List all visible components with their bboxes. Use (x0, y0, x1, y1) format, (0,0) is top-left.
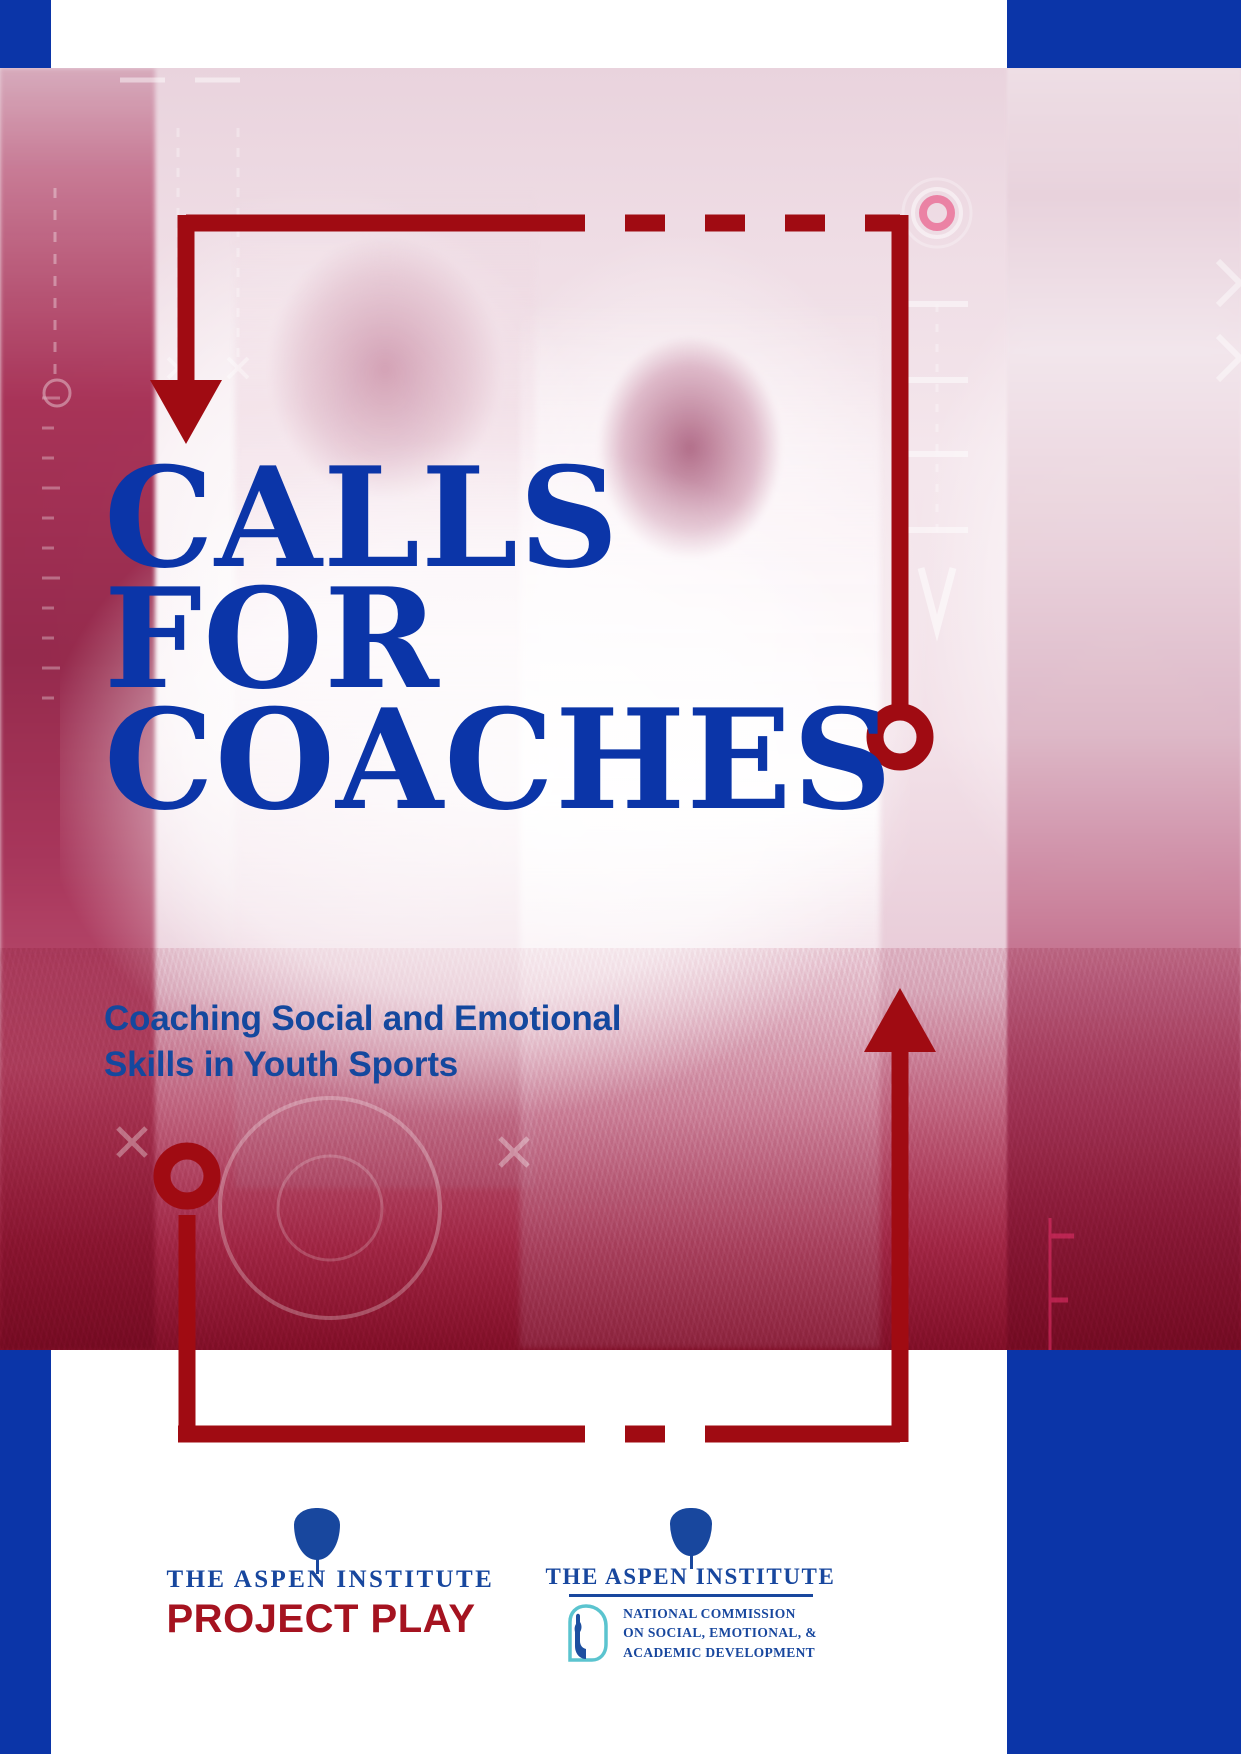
logo-project-play: THE ASPEN INSTITUTE PROJECT PLAY (167, 1508, 467, 1642)
logo-divider-rule (569, 1594, 813, 1597)
commission-name: NATIONAL COMMISSION ON SOCIAL, EMOTIONAL… (623, 1604, 817, 1661)
head-with-hand-icon (564, 1602, 616, 1664)
title-line-3: COACHES (104, 697, 964, 824)
project-play-org-name: THE ASPEN INSTITUTE (167, 1566, 467, 1594)
blue-band-top-right (1007, 0, 1241, 68)
aspen-leaf-icon (541, 1508, 841, 1564)
commission-lockup: NATIONAL COMMISSION ON SOCIAL, EMOTIONAL… (541, 1602, 841, 1664)
subtitle-line-2: Skills in Youth Sports (104, 1042, 824, 1088)
page-subtitle: Coaching Social and Emotional Skills in … (104, 996, 824, 1087)
report-cover: CALLS FOR COACHES Coaching Social and Em… (0, 0, 1241, 1754)
logo-national-commission: THE ASPEN INSTITUTE NATIONAL COMMISSION … (541, 1508, 841, 1664)
project-play-program-name: PROJECT PLAY (167, 1597, 467, 1642)
commission-line-2: ON SOCIAL, EMOTIONAL, & (623, 1623, 817, 1642)
logo-row: THE ASPEN INSTITUTE PROJECT PLAY THE ASP… (0, 1508, 1007, 1698)
subtitle-line-1: Coaching Social and Emotional (104, 996, 824, 1042)
blue-band-bottom-right (1007, 1350, 1241, 1754)
commission-line-3: ACADEMIC DEVELOPMENT (623, 1643, 817, 1662)
blue-band-top-left (0, 0, 51, 68)
commission-org-name: THE ASPEN INSTITUTE (541, 1564, 841, 1590)
aspen-leaf-icon (167, 1508, 467, 1566)
page-title: CALLS FOR COACHES (104, 455, 964, 824)
commission-line-1: NATIONAL COMMISSION (623, 1604, 817, 1623)
